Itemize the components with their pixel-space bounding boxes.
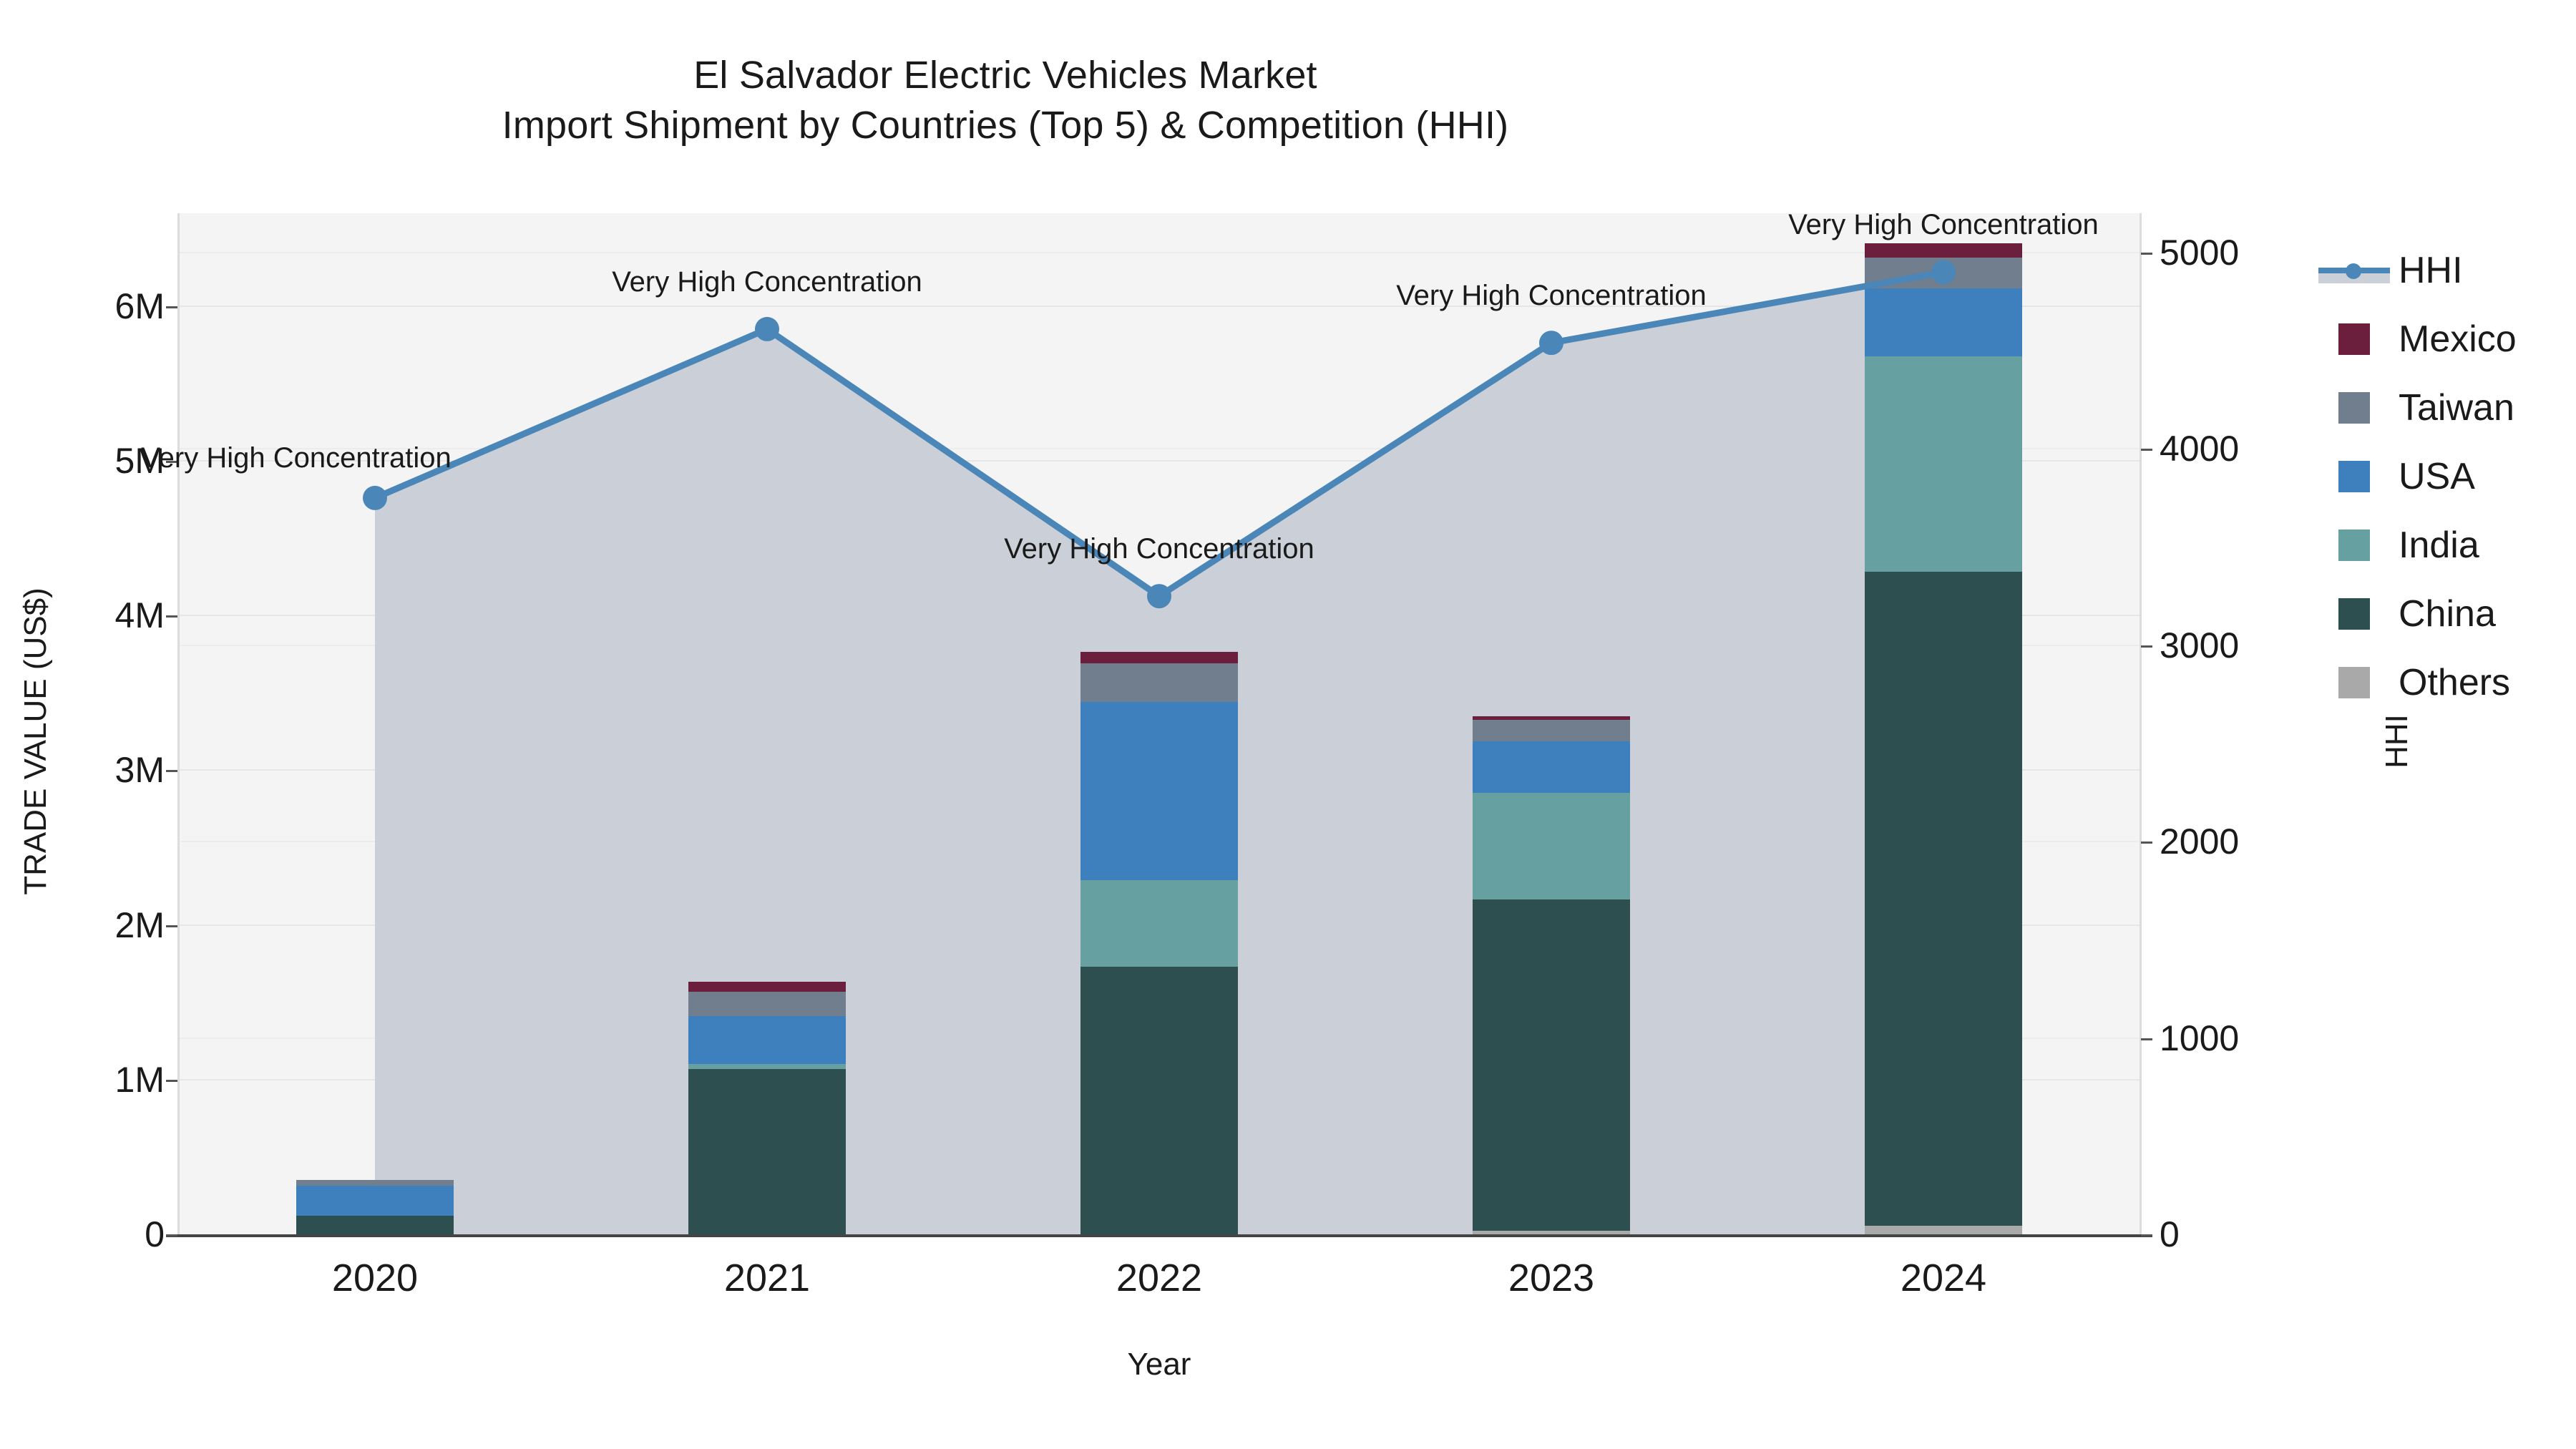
y-tick-left: 3M — [115, 749, 165, 791]
legend-item-mexico[interactable]: Mexico — [2318, 305, 2517, 374]
hhi-marker-2024[interactable] — [1931, 260, 1956, 284]
hhi-marker-2020[interactable] — [363, 486, 387, 510]
y-tickmark-left — [166, 1234, 177, 1236]
legend: HHIMexicoTaiwanUSAIndiaChinaOthers — [2318, 236, 2517, 717]
annotation-2020: Very High Concentration — [141, 442, 452, 474]
legend-label: Others — [2399, 661, 2510, 704]
legend-swatch-icon — [2338, 392, 2370, 424]
legend-item-taiwan[interactable]: Taiwan — [2318, 374, 2517, 442]
y-tick-right: 3000 — [2160, 625, 2239, 666]
legend-label: Mexico — [2399, 318, 2517, 361]
legend-item-hhi[interactable]: HHI — [2318, 236, 2517, 305]
chart-title: El Salvador Electric Vehicles Market — [0, 50, 2011, 100]
legend-swatch-icon — [2338, 323, 2370, 355]
y-tickmark-right — [2141, 1234, 2152, 1236]
y-tick-right: 2000 — [2160, 821, 2239, 862]
y-axis-left-spine — [177, 213, 180, 1234]
y-tickmark-right — [2141, 1038, 2152, 1040]
legend-swatch-icon — [2338, 530, 2370, 561]
y-tick-left: 0 — [145, 1214, 165, 1255]
legend-item-india[interactable]: India — [2318, 511, 2517, 580]
legend-line-marker-icon — [2318, 255, 2390, 286]
plot-area — [179, 213, 2140, 1234]
y-axis-left-title: TRADE VALUE (US$) — [18, 491, 54, 992]
y-tickmark-right — [2141, 645, 2152, 648]
legend-label: Taiwan — [2399, 386, 2514, 429]
y-tick-left: 6M — [115, 286, 165, 327]
y-tick-left: 2M — [115, 904, 165, 946]
y-tickmark-right — [2141, 449, 2152, 451]
x-tick-2023: 2023 — [1444, 1256, 1659, 1300]
annotation-2023: Very High Concentration — [1396, 280, 1707, 312]
x-tick-2021: 2021 — [660, 1256, 874, 1300]
y-tickmark-right — [2141, 253, 2152, 255]
chart-subtitle: Import Shipment by Countries (Top 5) & C… — [0, 100, 2011, 150]
y-tickmark-left — [166, 925, 177, 927]
hhi-line-layer — [179, 213, 2140, 1234]
annotation-2021: Very High Concentration — [612, 266, 922, 298]
chart-root: El Salvador Electric Vehicles Market Imp… — [0, 0, 2576, 1449]
legend-swatch-icon — [2338, 461, 2370, 492]
y-axis-right-spine — [2140, 213, 2142, 1234]
chart-title-block: El Salvador Electric Vehicles Market Imp… — [0, 50, 2011, 150]
legend-label: USA — [2399, 455, 2475, 498]
legend-swatch-icon — [2338, 598, 2370, 630]
legend-item-usa[interactable]: USA — [2318, 442, 2517, 511]
legend-item-china[interactable]: China — [2318, 580, 2517, 648]
y-tick-left: 1M — [115, 1059, 165, 1101]
y-tick-left: 4M — [115, 595, 165, 636]
y-tickmark-right — [2141, 841, 2152, 844]
legend-item-others[interactable]: Others — [2318, 648, 2517, 717]
y-tickmark-left — [166, 615, 177, 618]
legend-swatch-icon — [2338, 667, 2370, 698]
y-tickmark-left — [166, 1080, 177, 1082]
y-tickmark-left — [166, 770, 177, 772]
x-tick-2022: 2022 — [1052, 1256, 1267, 1300]
y-tick-right: 1000 — [2160, 1018, 2239, 1059]
hhi-marker-2023[interactable] — [1539, 331, 1563, 355]
x-axis-spine — [166, 1234, 2152, 1237]
annotation-2024: Very High Concentration — [1788, 209, 2099, 241]
legend-label: India — [2399, 524, 2479, 567]
y-tick-right: 5000 — [2160, 232, 2239, 273]
y-tick-right: 4000 — [2160, 428, 2239, 469]
annotation-2022: Very High Concentration — [1004, 533, 1314, 565]
y-tickmark-left — [166, 306, 177, 308]
y-tick-right: 0 — [2160, 1214, 2180, 1255]
legend-label: China — [2399, 592, 2496, 635]
hhi-marker-2021[interactable] — [755, 317, 779, 341]
x-axis-title: Year — [179, 1347, 2140, 1382]
legend-label: HHI — [2399, 249, 2463, 292]
x-tick-2020: 2020 — [268, 1256, 482, 1300]
hhi-marker-2022[interactable] — [1147, 584, 1171, 608]
x-tick-2024: 2024 — [1836, 1256, 2051, 1300]
